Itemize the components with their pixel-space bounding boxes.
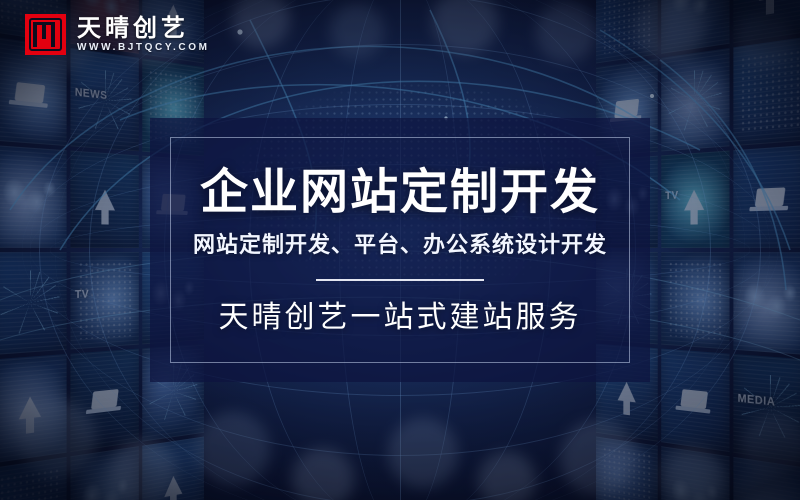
bokeh-light [736, 10, 794, 68]
headline-title: 企业网站定制开发 [200, 166, 600, 219]
bokeh-light [536, 2, 596, 62]
brand-name-cn: 天晴创艺 [77, 17, 210, 41]
bokeh-light [110, 440, 176, 500]
brand-website-url: WWW.BJTQCY.COM [77, 43, 210, 53]
promo-banner: NEWSTV TVMEDIA [0, 0, 800, 500]
tianqing-logo-mark-icon [25, 14, 66, 55]
brand-logo[interactable]: 天晴创艺 WWW.BJTQCY.COM [25, 14, 210, 55]
bokeh-light [560, 420, 636, 496]
headline-slogan: 天晴创艺一站式建站服务 [219, 301, 582, 334]
bokeh-light [18, 400, 96, 478]
headline-divider [316, 279, 484, 281]
headline-subtitle: 网站定制开发、平台、办公系统设计开发 [193, 233, 607, 257]
brand-logo-text: 天晴创艺 WWW.BJTQCY.COM [77, 17, 210, 53]
bokeh-light [330, 4, 384, 58]
bokeh-light [388, 418, 458, 488]
bokeh-light [196, 412, 270, 486]
headline-panel: 企业网站定制开发 网站定制开发、平台、办公系统设计开发 天晴创艺一站式建站服务 [150, 118, 650, 382]
bokeh-light [742, 414, 800, 480]
